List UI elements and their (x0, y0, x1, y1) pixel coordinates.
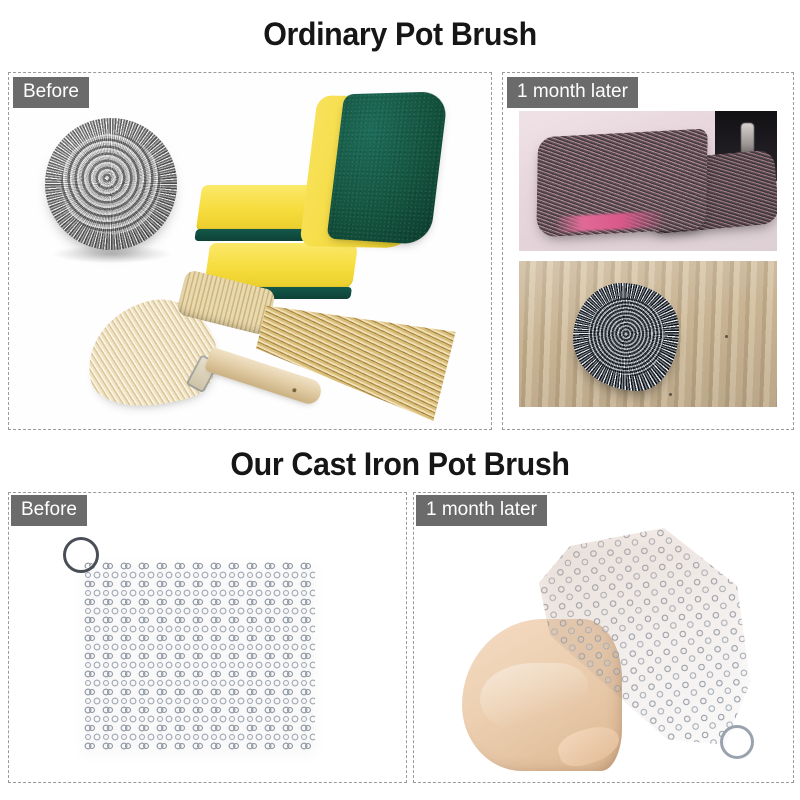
photo-dirty-steel-wool-ball (519, 261, 777, 407)
label-before: Before (13, 77, 89, 108)
chainmail-hanging-ring-icon (63, 537, 99, 573)
label-one-month-later: 1 month later (416, 495, 547, 526)
panel-ours-before: Before (8, 492, 407, 783)
panel-ours-after: 1 month later (413, 492, 794, 783)
hand-thumb (554, 720, 623, 771)
photo-worn-steel-wool-pads (519, 111, 777, 251)
chainmail-hanging-ring-icon (720, 725, 754, 759)
dirty-steel-wool-ball (573, 283, 679, 391)
label-one-month-later: 1 month later (507, 77, 638, 108)
photo-chainmail-scrubber-in-hand (414, 493, 793, 782)
photo-ordinary-brushes (9, 73, 492, 429)
steel-wool-ball-shadow (53, 245, 171, 263)
wood-speck (669, 393, 672, 396)
wood-speck (725, 335, 728, 338)
section-title-ordinary: Ordinary Pot Brush (20, 16, 780, 53)
label-before: Before (11, 495, 87, 526)
panel-ordinary-before: Before (8, 72, 492, 430)
bamboo-brush-splints (249, 286, 456, 421)
green-yellow-scourer (300, 84, 451, 259)
panel-ordinary-after: 1 month later (502, 72, 794, 430)
comparison-infographic: Ordinary Pot Brush (0, 0, 800, 800)
chainmail-square (83, 561, 315, 751)
scourer-green-abrasive (327, 91, 449, 245)
worn-pad-primary (536, 128, 708, 237)
photo-chainmail-scrubber-flat (9, 493, 406, 782)
section-title-ours: Our Cast Iron Pot Brush (20, 446, 780, 483)
steel-wool-ball (45, 118, 177, 250)
